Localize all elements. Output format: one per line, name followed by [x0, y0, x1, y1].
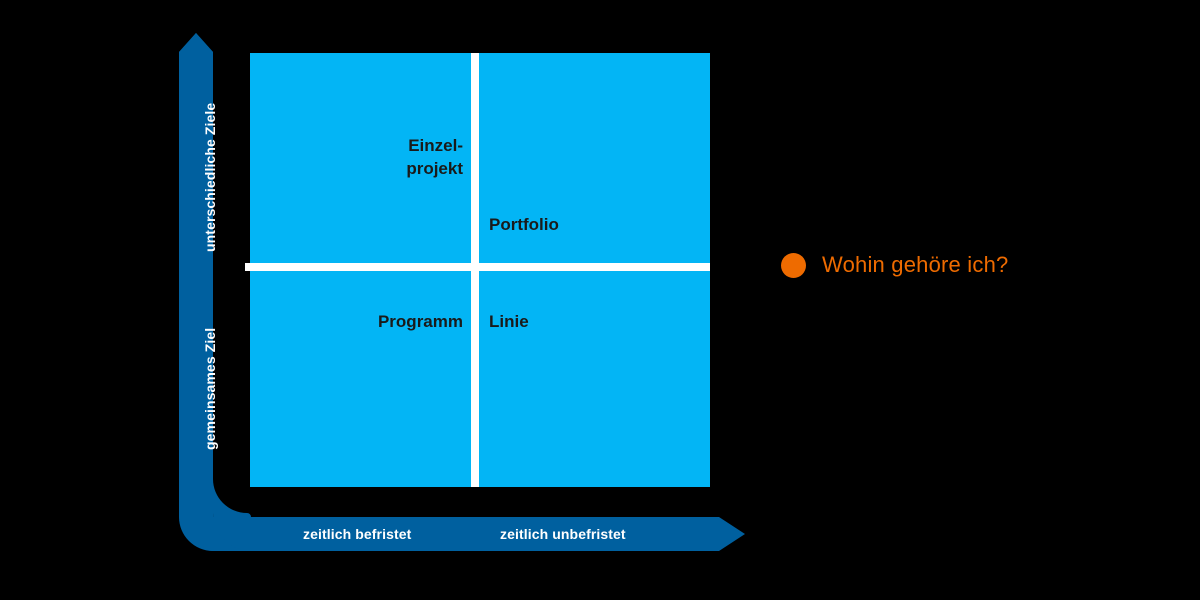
quadrant-einzelprojekt[interactable]: Einzel-projekt — [250, 53, 471, 263]
y-axis-label-upper: unterschiedliche Ziele — [202, 103, 218, 252]
orange-dot-icon — [781, 253, 806, 278]
legend-label: Wohin gehöre ich? — [822, 252, 1008, 278]
x-axis-label-left: zeitlich befristet — [303, 526, 411, 542]
quadrant-portfolio[interactable]: Portfolio — [479, 53, 710, 263]
quadrant-label: Linie — [489, 311, 529, 334]
diagram-canvas: unterschiedliche Ziele gemeinsames Ziel … — [0, 0, 1200, 600]
matrix-divider-horizontal — [245, 263, 710, 271]
horizontal-axis-arrow — [213, 517, 745, 551]
quadrant-programm[interactable]: Programm — [250, 271, 471, 487]
quadrant-label: Portfolio — [489, 214, 559, 237]
quadrant-label-line1: Einzel- — [408, 136, 463, 155]
quadrant-label: Einzel-projekt — [406, 135, 463, 181]
legend: Wohin gehöre ich? — [781, 252, 1008, 278]
quadrant-label: Programm — [378, 311, 463, 334]
y-axis-label-lower: gemeinsames Ziel — [202, 328, 218, 450]
x-axis-label-right: zeitlich unbefristet — [500, 526, 626, 542]
quadrant-linie[interactable]: Linie — [479, 271, 710, 487]
quadrant-label-line2: projekt — [406, 159, 463, 178]
